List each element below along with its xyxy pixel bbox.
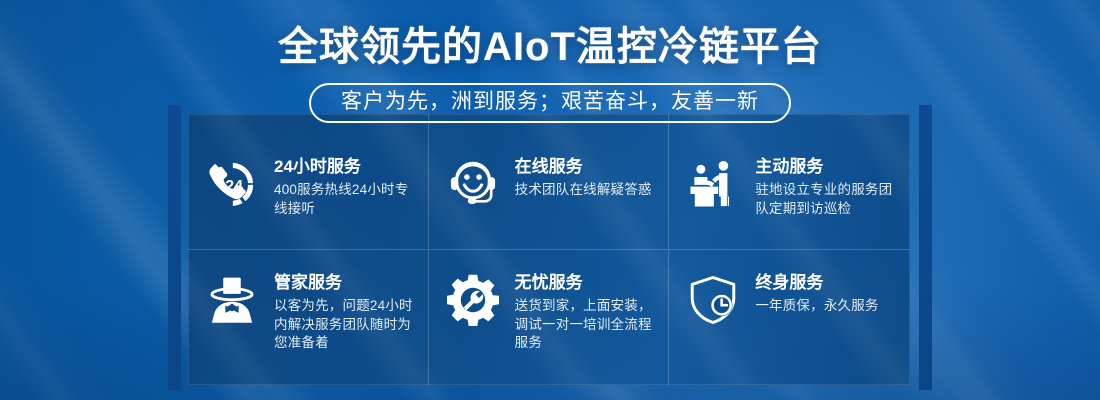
service-title: 在线服务 (515, 157, 659, 177)
service-text: 管家服务 以客为先，问题24小时内解决服务团队随时为您准备着 (274, 272, 418, 353)
page-title: 全球领先的AIoT温控冷链平台 (0, 0, 1100, 72)
service-title: 管家服务 (274, 273, 418, 293)
slogan-pill: 客户为先，洲到服务；艰苦奋斗，友善一新 (309, 83, 791, 123)
accent-bar-left (168, 105, 181, 390)
service-desc: 技术团队在线解疑答惑 (515, 181, 659, 200)
service-desc: 驻地设立专业的服务团队定期到访巡检 (755, 181, 900, 218)
service-text: 终身服务 一年质保，永久服务 (755, 272, 900, 316)
gear-wrench-icon (445, 272, 501, 328)
service-desc: 以客为先，问题24小时内解决服务团队随时为您准备着 (274, 297, 418, 353)
service-desc: 送货到家，上面安装，调试一对一培训全流程服务 (515, 297, 659, 353)
services-panel: 24 24小时服务 400服务热线24小时专线接听 (188, 114, 910, 385)
accent-bar-right (919, 105, 932, 390)
service-item-butler[interactable]: 管家服务 以客为先，问题24小时内解决服务团队随时为您准备着 (188, 250, 429, 386)
phone-24h-icon: 24 (204, 156, 260, 212)
staff-counter-icon (685, 156, 741, 212)
service-text: 主动服务 驻地设立专业的服务团队定期到访巡检 (755, 156, 900, 219)
banner-header: 全球领先的AIoT温控冷链平台 客户为先，洲到服务；艰苦奋斗，友善一新 (0, 0, 1100, 123)
service-title: 24小时服务 (274, 157, 418, 177)
service-item-proactive[interactable]: 主动服务 驻地设立专业的服务团队定期到访巡检 (669, 114, 910, 250)
svg-text:24: 24 (225, 177, 243, 195)
service-text: 24小时服务 400服务热线24小时专线接听 (274, 156, 418, 219)
service-item-24h[interactable]: 24 24小时服务 400服务热线24小时专线接听 (188, 114, 429, 250)
slogan-container: 客户为先，洲到服务；艰苦奋斗，友善一新 (0, 83, 1100, 123)
service-desc: 一年质保，永久服务 (755, 297, 900, 316)
service-banner: 全球领先的AIoT温控冷链平台 客户为先，洲到服务；艰苦奋斗，友善一新 24 (0, 0, 1100, 400)
service-text: 在线服务 技术团队在线解疑答惑 (515, 156, 659, 200)
service-text: 无忧服务 送货到家，上面安装，调试一对一培训全流程服务 (515, 272, 659, 353)
service-title: 无忧服务 (515, 273, 659, 293)
service-item-online[interactable]: 在线服务 技术团队在线解疑答惑 (429, 114, 670, 250)
service-desc: 400服务热线24小时专线接听 (274, 181, 418, 218)
butler-icon (204, 272, 260, 328)
service-title: 主动服务 (755, 157, 900, 177)
service-item-worryfree[interactable]: 无忧服务 送货到家，上面安装，调试一对一培训全流程服务 (429, 250, 670, 386)
shield-clock-icon (685, 272, 741, 328)
services-grid: 24 24小时服务 400服务热线24小时专线接听 (188, 114, 910, 385)
service-item-lifetime[interactable]: 终身服务 一年质保，永久服务 (669, 250, 910, 386)
headset-smiley-icon (445, 156, 501, 212)
service-title: 终身服务 (755, 273, 900, 293)
